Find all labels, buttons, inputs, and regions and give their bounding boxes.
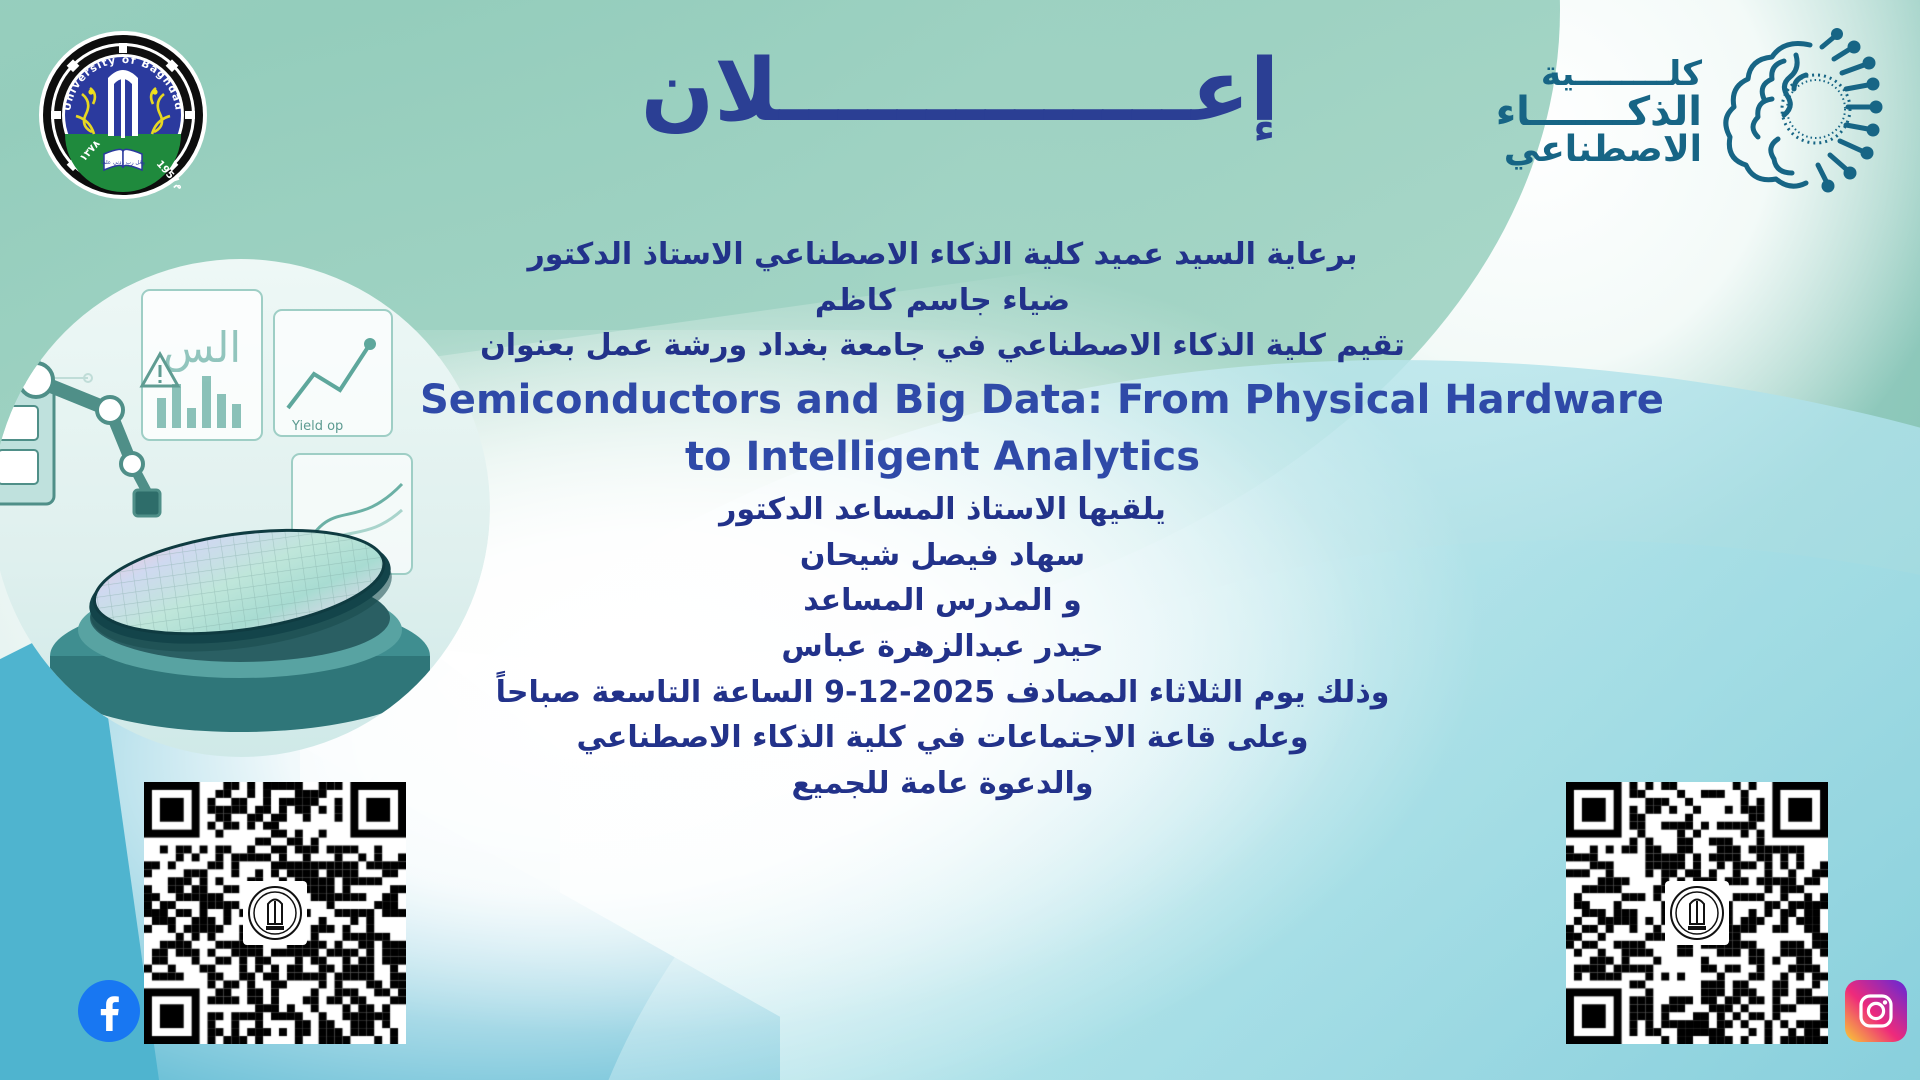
svg-text:الس: الس: [163, 323, 241, 372]
qr-left-center-logo: [243, 881, 307, 945]
line-copresenter-name: حيدر عبدالزهرة عباس: [420, 624, 1465, 670]
semiconductor-illustration: الس Yield op: [0, 258, 490, 758]
line-organizer: تقيم كلية الذكاء الاصطناعي في جامعة بغدا…: [420, 323, 1465, 369]
facebook-icon[interactable]: [78, 980, 140, 1042]
line-title-en-1: Semiconductors and Big Data: From Physic…: [420, 375, 1465, 426]
line-venue: وعلى قاعة الاجتماعات في كلية الذكاء الاص…: [420, 715, 1465, 761]
instagram-icon[interactable]: [1845, 980, 1907, 1042]
line-dean-name: ضياء جاسم كاظم: [420, 278, 1465, 324]
qr-code-left[interactable]: [144, 782, 406, 1044]
college-line-3: الاصطناعي: [1504, 132, 1702, 169]
announcement-poster: الس Yield op: [0, 0, 1920, 1080]
svg-text:وقل رب زدني علما: وقل رب زدني علما: [101, 160, 145, 166]
svg-text:Yield op: Yield op: [291, 419, 343, 434]
line-patronage: برعاية السيد عميد كلية الذكاء الاصطناعي …: [420, 232, 1465, 278]
line-title-en-2: to Intelligent Analytics: [420, 432, 1465, 483]
page-title: إعــــــــــــــلان: [0, 48, 1920, 134]
line-presenter-name: سهاد فيصل شيحان: [420, 533, 1465, 579]
line-datetime: وذلك يوم الثلاثاء المصادف 2025-12-9 السا…: [420, 670, 1465, 716]
qr-right-center-logo: [1665, 881, 1729, 945]
announcement-body: برعاية السيد عميد كلية الذكاء الاصطناعي …: [420, 232, 1465, 806]
line-copresenter-role: و المدرس المساعد: [420, 578, 1465, 624]
line-invitation: والدعوة عامة للجميع: [420, 761, 1465, 807]
qr-code-right[interactable]: [1566, 782, 1828, 1044]
line-presenter-role: يلقيها الاستاذ المساعد الدكتور: [420, 487, 1465, 533]
